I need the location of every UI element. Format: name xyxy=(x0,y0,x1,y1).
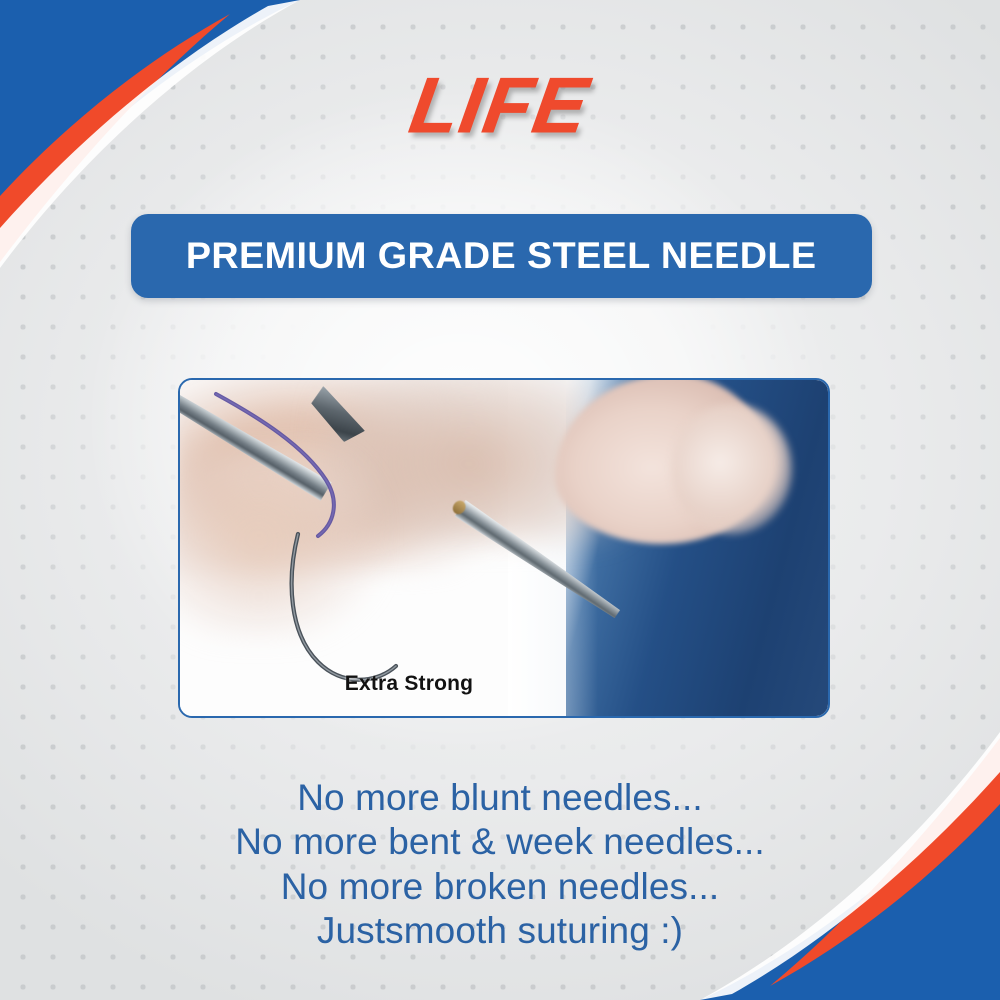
product-photo-card: Extra Strong xyxy=(178,378,830,718)
product-banner: PREMIUM GRADE STEEL NEEDLE xyxy=(131,214,872,298)
page-title: LIFE xyxy=(0,66,1000,144)
tagline-line-2: No more bent & week needles... xyxy=(0,820,1000,864)
product-photo: Extra Strong xyxy=(180,380,828,716)
photo-gloved-fingertip-right xyxy=(672,404,792,534)
tagline-line-3: No more broken needles... xyxy=(0,865,1000,909)
poster-canvas: LIFE PREMIUM GRADE STEEL NEEDLE xyxy=(0,0,1000,1000)
tagline-block: No more blunt needles... No more bent & … xyxy=(0,776,1000,954)
product-banner-label: PREMIUM GRADE STEEL NEEDLE xyxy=(186,235,817,277)
photo-curved-suture-needle xyxy=(284,528,404,688)
tagline-line-1: No more blunt needles... xyxy=(0,776,1000,820)
photo-caption: Extra Strong xyxy=(180,672,828,696)
tagline-line-4: Justsmooth suturing :) xyxy=(0,909,1000,953)
